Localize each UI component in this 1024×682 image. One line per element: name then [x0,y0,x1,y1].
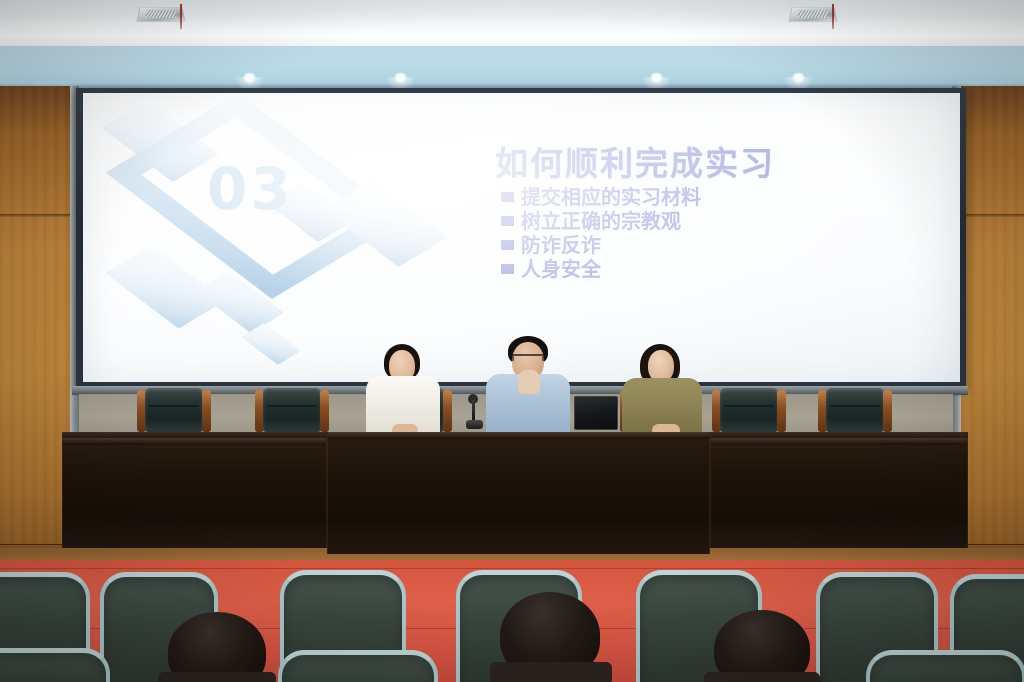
slide-bullet-text: 防诈反诈 [521,233,601,257]
ceiling-downlight-icon [394,73,407,84]
panel-table-segment-center [327,432,710,554]
bullet-square-icon [501,192,514,202]
chair-backrest [720,388,778,432]
audience-seat [866,650,1024,682]
ceiling-downlight-icon [792,73,805,84]
panel-table-segment-left [62,438,327,550]
bullet-square-icon [501,216,514,226]
chair-backrest [263,388,321,432]
audience-shoulders [704,672,820,682]
slide-bullet-list: 提交相应的实习材料 树立正确的宗教观 防诈反诈 人身安全 [501,185,701,281]
list-item: 树立正确的宗教观 [501,209,701,233]
slide-bullet-text: 人身安全 [521,257,601,281]
audience-shoulders [490,662,612,682]
speaker-raised-hand [518,370,540,394]
list-item: 人身安全 [501,257,701,281]
panel-chair-empty [712,388,786,434]
chair-backrest [826,388,884,432]
ceiling-vent-stem [180,4,182,30]
ceiling-air-vent [136,7,185,22]
wood-panel-seam [960,214,1024,217]
audience-seat [278,650,438,682]
wood-wall-panel-right [960,86,1024,560]
chair-armrest [883,390,892,432]
ceiling-downlight-icon [650,73,663,84]
ceiling-vent-stem [832,4,834,30]
ceiling-downlight-icon [243,73,256,84]
slide-bullet-text: 提交相应的实习材料 [521,185,701,209]
ceiling-light-strip [0,29,1024,46]
slide-section-number: 03 [207,155,294,223]
ceiling-blue-soffit [0,46,1024,90]
bullet-square-icon [501,264,514,274]
slide-title: 如何顺利完成实习 [495,137,775,185]
microphone-base [466,420,483,429]
panel-chair-empty [818,388,892,434]
eyeglasses-icon [512,354,544,361]
carpet-seam [0,568,1024,569]
audience-seat [0,648,110,682]
chair-armrest [320,390,329,432]
list-item: 防诈反诈 [501,233,701,257]
chair-armrest [443,390,452,432]
laptop-icon [574,396,618,430]
microphone-stem [472,400,475,422]
slide-bullet-text: 树立正确的宗教观 [521,209,681,233]
list-item: 提交相应的实习材料 [501,185,701,209]
wood-panel-seam [0,214,72,217]
bullet-square-icon [501,240,514,250]
chair-armrest [202,390,211,432]
panel-table-segment-right [710,438,968,550]
audience-shoulders [158,672,276,682]
chair-armrest [777,390,786,432]
panel-chair-empty [255,388,329,434]
ceiling-air-vent [788,7,837,22]
chair-backrest [145,388,203,432]
conference-hall-scene: 03 如何顺利完成实习 提交相应的实习材料 树立正确的宗教观 防诈反诈 [0,0,1024,682]
panel-chair-empty [137,388,211,434]
